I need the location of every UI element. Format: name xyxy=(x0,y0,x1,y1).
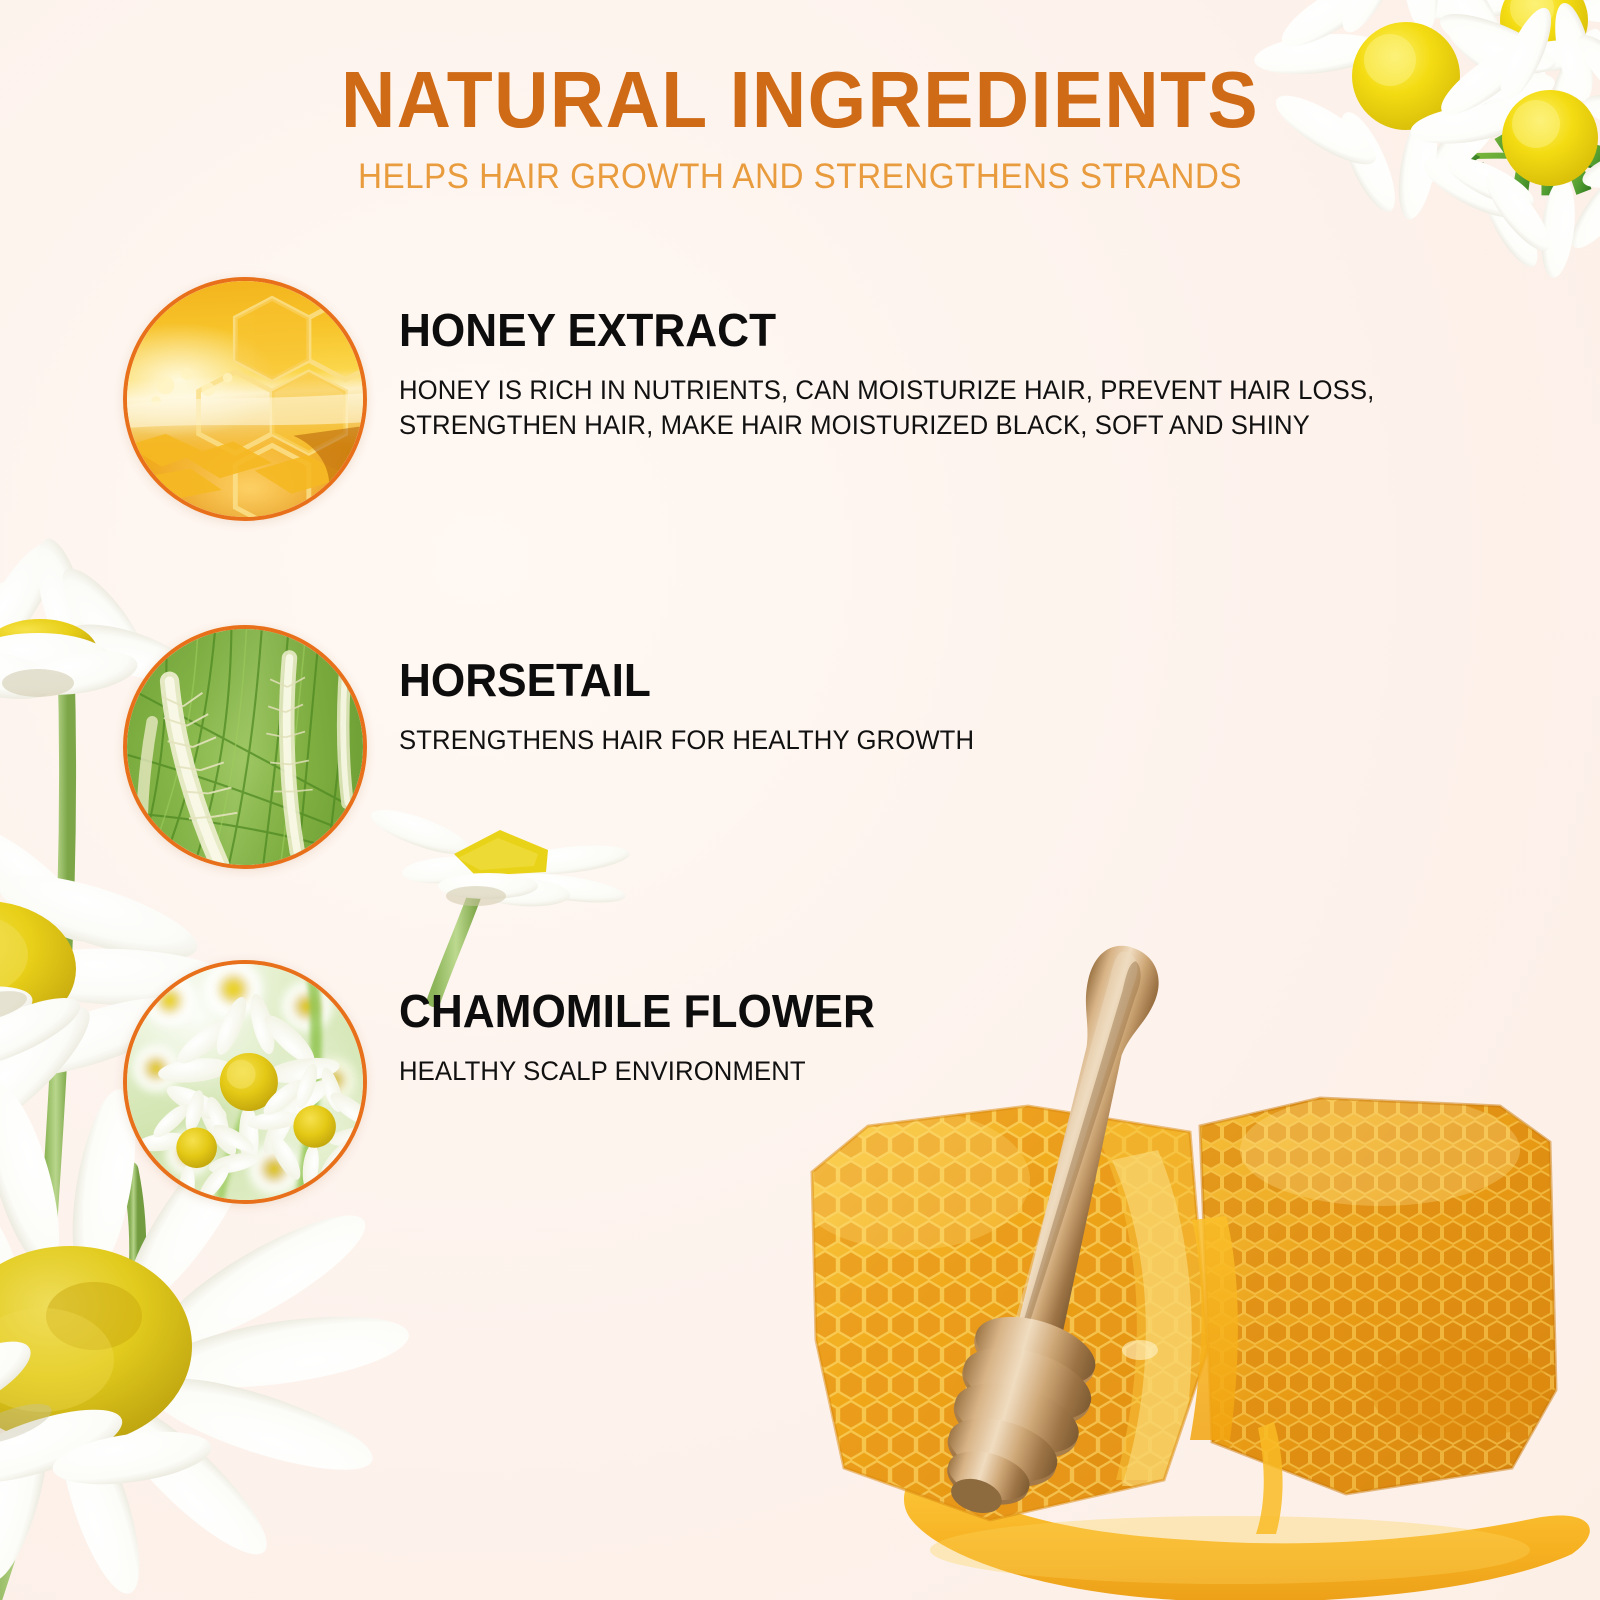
ingredient-description: HONEY IS RICH IN NUTRIENTS, CAN MOISTURI… xyxy=(399,373,1379,443)
ingredient-name: HORSETAIL xyxy=(399,655,1397,705)
ingredient-image-horsetail xyxy=(123,625,367,869)
ingredient-description: HEALTHY SCALP ENVIRONMENT xyxy=(399,1054,1369,1089)
ingredient-text-chamomile-flower: CHAMOMILE FLOWER HEALTHY SCALP ENVIRONME… xyxy=(399,986,1439,1089)
grass-blades-overlay-icon xyxy=(127,629,363,865)
honeycomb-hex-overlay-icon xyxy=(127,281,363,517)
ingredient-name: CHAMOMILE FLOWER xyxy=(399,986,1397,1036)
chamomile-photo xyxy=(127,964,363,1200)
poster-root: NATURAL INGREDIENTS HELPS HAIR GROWTH AN… xyxy=(0,0,1600,1600)
ingredient-list: HONEY EXTRACT HONEY IS RICH IN NUTRIENTS… xyxy=(0,0,1600,1600)
chamomile-blooms-overlay-icon xyxy=(127,964,363,1200)
ingredient-text-honey-extract: HONEY EXTRACT HONEY IS RICH IN NUTRIENTS… xyxy=(399,305,1439,443)
ingredient-text-horsetail: HORSETAIL STRENGTHENS HAIR FOR HEALTHY G… xyxy=(399,655,1439,758)
ingredient-image-honey-extract xyxy=(123,277,367,521)
ingredient-name: HONEY EXTRACT xyxy=(399,305,1397,355)
horsetail-photo xyxy=(127,629,363,865)
ingredient-description: STRENGTHENS HAIR FOR HEALTHY GROWTH xyxy=(399,723,1369,758)
ingredient-image-chamomile-flower xyxy=(123,960,367,1204)
honey-extract-photo xyxy=(127,281,363,517)
